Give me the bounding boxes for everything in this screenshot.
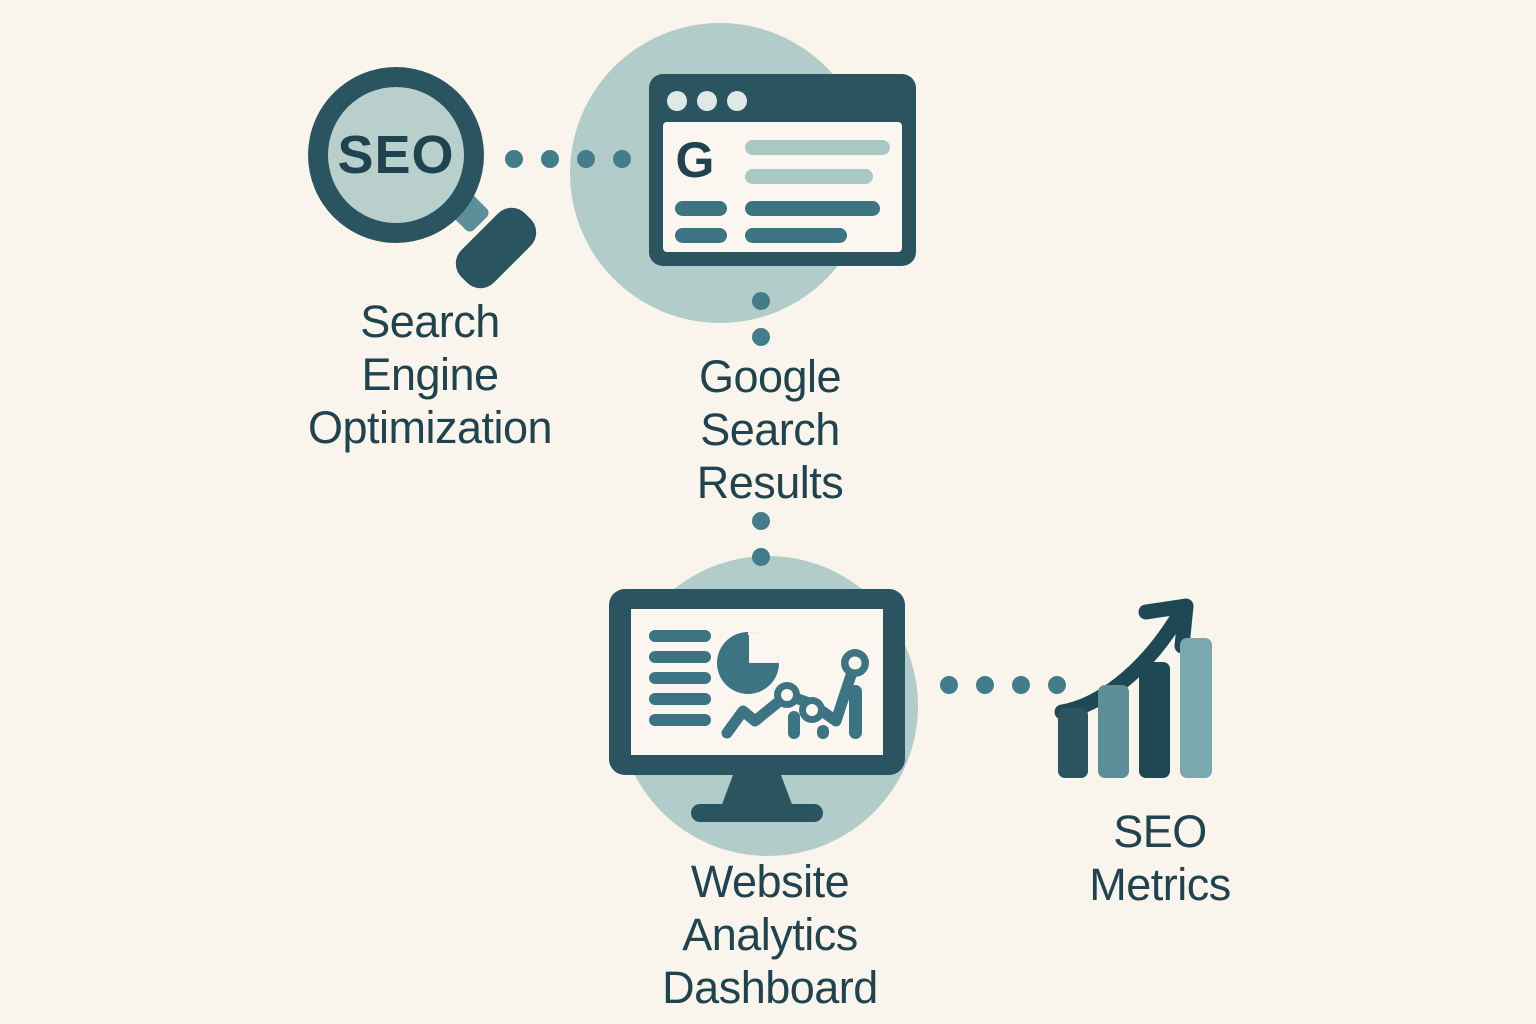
growth-bar-chart-icon[interactable] xyxy=(1050,590,1220,780)
label-google-search-results: Google Search Results xyxy=(620,350,920,509)
connector-dot xyxy=(1012,676,1030,694)
connector-dot xyxy=(505,150,523,168)
label-website-analytics-dashboard: Website Analytics Dashboard xyxy=(620,855,920,1014)
diagram-canvas: SEO Search Engine Optimization G xyxy=(0,0,1536,1024)
magnifying-glass-icon[interactable]: SEO xyxy=(290,55,550,285)
connector-dot xyxy=(752,292,770,310)
connector-dot xyxy=(976,676,994,694)
label-seo-metrics: SEO Metrics xyxy=(1040,805,1280,911)
growth-bar-2 xyxy=(1098,685,1129,778)
growth-bar-1 xyxy=(1058,708,1088,778)
connector-dot xyxy=(752,512,770,530)
connector-results-to-monitor xyxy=(752,512,770,566)
connector-dot xyxy=(752,548,770,566)
magnifier-seo-text: SEO xyxy=(337,125,454,185)
connector-dot xyxy=(613,150,631,168)
monitor-stand xyxy=(691,775,823,822)
desktop-monitor-icon[interactable] xyxy=(605,585,925,830)
connector-seo-to-google xyxy=(505,150,667,168)
connector-google-to-label xyxy=(752,292,770,346)
label-search-engine-optimization: Search Engine Optimization xyxy=(250,295,610,454)
browser-titlebar-dots xyxy=(667,91,747,111)
google-g-logo: G xyxy=(676,132,715,188)
screen-pie-chart xyxy=(717,632,779,694)
connector-dot xyxy=(541,150,559,168)
connector-monitor-to-metrics xyxy=(940,676,1066,694)
connector-dot xyxy=(752,328,770,346)
connector-dot xyxy=(577,150,595,168)
growth-bar-4 xyxy=(1180,638,1212,778)
connector-dot xyxy=(940,676,958,694)
browser-window-icon[interactable]: G xyxy=(645,70,920,270)
growth-bar-3 xyxy=(1139,662,1170,778)
